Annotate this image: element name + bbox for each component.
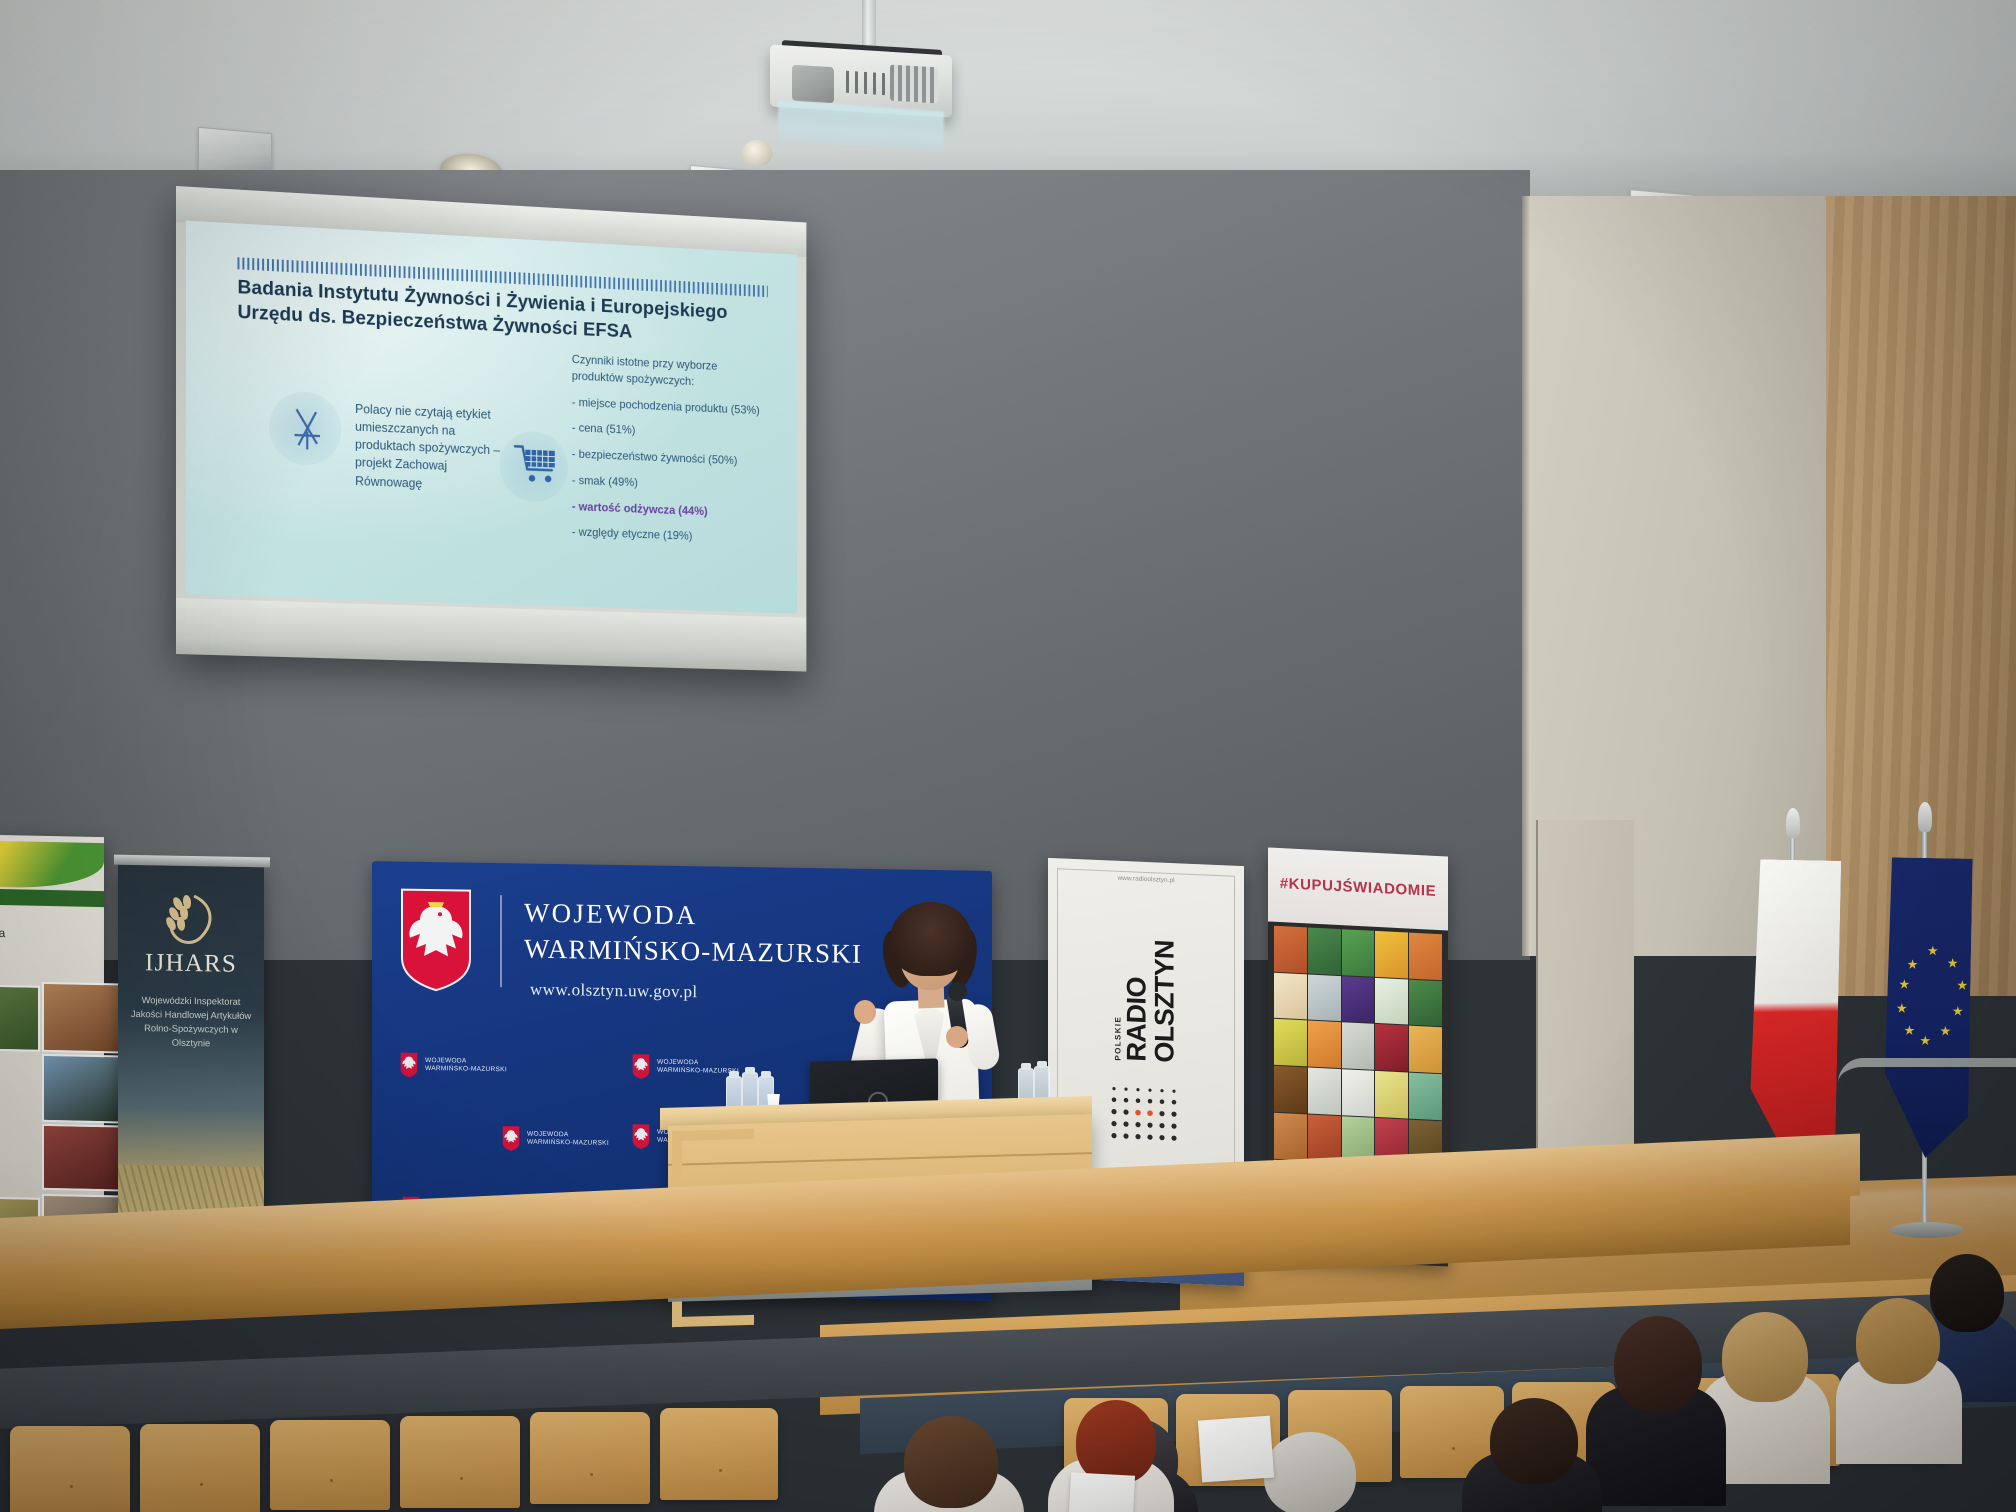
attendee-head bbox=[1856, 1298, 1940, 1384]
poland-flag-finial bbox=[1786, 808, 1800, 838]
eu-star: ★ bbox=[1907, 958, 1919, 971]
eu-star: ★ bbox=[1952, 1004, 1964, 1017]
no-label-icon bbox=[291, 405, 324, 452]
projector-vent bbox=[890, 65, 938, 104]
collage-tile bbox=[1375, 978, 1408, 1025]
collage-tile bbox=[1409, 933, 1442, 980]
jacket-lapel bbox=[914, 1004, 946, 1063]
collage-tile bbox=[1308, 1068, 1341, 1115]
slide-left-text: Polacy nie czytają etykiet umieszczanych… bbox=[355, 400, 511, 496]
wall-panel-edge bbox=[1522, 196, 1531, 956]
slide-bullet-3: - smak (49%) bbox=[572, 472, 768, 496]
wm1: WOJEWODA bbox=[657, 1058, 699, 1066]
projector-ports bbox=[846, 71, 886, 95]
backdrop-watermark-3: WOJEWODA WARMIŃSKO-MAZURSKI bbox=[500, 1125, 609, 1153]
backdrop-watermark-2: WOJEWODA WARMIŃSKO-MAZURSKI bbox=[630, 1053, 739, 1081]
attendee-head-grey-hair bbox=[1264, 1432, 1356, 1512]
auditorium-seat[interactable] bbox=[270, 1420, 390, 1510]
slide-bullet-2: - bezpieczeństwo żywności (50%) bbox=[572, 446, 768, 470]
backdrop-divider bbox=[500, 895, 502, 987]
handout-paper[interactable] bbox=[1069, 1472, 1135, 1512]
kupuj-header: #KUPUJŚWIADOMIE bbox=[1268, 847, 1448, 930]
auditorium-seat[interactable] bbox=[530, 1412, 650, 1504]
microphone-head bbox=[948, 982, 967, 1001]
collage-tile bbox=[1409, 1073, 1442, 1120]
collage-tile bbox=[1342, 929, 1375, 976]
collage-tile bbox=[1342, 1069, 1375, 1116]
polish-eagle-emblem-icon bbox=[630, 1123, 652, 1149]
slide-bullet-0: - miejsce pochodzenia produktu (53%) bbox=[572, 394, 768, 419]
auditorium-scene: Badania Instytutu Żywności i Żywienia i … bbox=[0, 0, 2016, 1512]
attendee-head bbox=[1722, 1312, 1808, 1402]
collage-tile bbox=[1274, 1113, 1307, 1160]
watermark-text: WOJEWODA WARMIŃSKO-MAZURSKI bbox=[657, 1058, 739, 1076]
radio-brand-line1: RADIO bbox=[1122, 939, 1150, 1063]
watermark-text: WOJEWODA WARMIŃSKO-MAZURSKI bbox=[527, 1130, 609, 1148]
wm1: WOJEWODA bbox=[425, 1057, 467, 1065]
odr-banner-text: …środek …olnictwa bbox=[0, 910, 100, 943]
slide-bullet-5: - względy etyczne (19%) bbox=[572, 524, 768, 547]
odr-photo-1 bbox=[0, 984, 40, 1052]
slide-right-column: Czynniki istotne przy wyborze produktów … bbox=[572, 351, 768, 557]
poland-flag bbox=[1749, 859, 1841, 1171]
auditorium-seat[interactable] bbox=[660, 1408, 778, 1500]
collage-tile bbox=[1274, 1019, 1307, 1066]
smoke-detector-icon bbox=[742, 140, 772, 166]
speaker-hair bbox=[890, 902, 972, 976]
eu-star: ★ bbox=[1927, 944, 1939, 957]
auditorium-seat[interactable] bbox=[400, 1416, 520, 1508]
slide-bullet-1: - cena (51%) bbox=[572, 420, 768, 445]
collage-tile bbox=[1342, 1023, 1375, 1070]
collage-tile bbox=[1308, 974, 1341, 1021]
collage-tile bbox=[1409, 979, 1442, 1026]
bottle-cap bbox=[761, 1071, 771, 1078]
attendee-head bbox=[1490, 1398, 1578, 1484]
collage-tile bbox=[1274, 926, 1307, 973]
polish-eagle-emblem-icon bbox=[500, 1125, 522, 1151]
attendee-head bbox=[904, 1416, 998, 1508]
collage-tile bbox=[1308, 1114, 1341, 1161]
watermark-text: WOJEWODA WARMIŃSKO-MAZURSKI bbox=[425, 1057, 507, 1075]
speaker-left-hand bbox=[854, 1000, 876, 1024]
speaker-right-hand bbox=[946, 1026, 968, 1048]
eu-star: ★ bbox=[1898, 977, 1910, 990]
shopping-cart-icon bbox=[513, 442, 559, 485]
collage-tile bbox=[1375, 1071, 1408, 1118]
auditorium-seat[interactable] bbox=[140, 1424, 260, 1512]
odr-photo-3 bbox=[42, 1054, 122, 1124]
collage-tile bbox=[1342, 976, 1375, 1023]
wm2: WARMIŃSKO-MAZURSKI bbox=[527, 1139, 609, 1147]
radio-dot-matrix-icon bbox=[1106, 1082, 1190, 1148]
bottle-cap bbox=[745, 1067, 755, 1074]
eu-star: ★ bbox=[1919, 1034, 1931, 1047]
polish-eagle-emblem-icon bbox=[630, 1053, 652, 1079]
collage-tile bbox=[1375, 1024, 1408, 1071]
odr-logo-swoosh bbox=[0, 840, 104, 889]
ijhars-top-rail bbox=[114, 855, 270, 868]
collage-tile bbox=[1308, 1021, 1341, 1068]
eu-flag-base bbox=[1890, 1222, 1964, 1238]
radio-brand-line2: OLSZTYN bbox=[1151, 940, 1179, 1064]
collage-tile bbox=[1274, 972, 1307, 1019]
eu-star: ★ bbox=[1903, 1024, 1915, 1037]
projector-lens bbox=[792, 65, 834, 104]
kupuj-hashtag: #KUPUJŚWIADOMIE bbox=[1268, 874, 1448, 900]
handout-paper[interactable] bbox=[1198, 1416, 1274, 1483]
odr-logo-bar bbox=[0, 888, 104, 907]
wojewoda-url: www.olsztyn.uw.gov.pl bbox=[530, 980, 698, 1003]
eu-star: ★ bbox=[1896, 1001, 1908, 1014]
eu-flag: ★ ★ ★ ★ ★ ★ ★ ★ ★ ★ bbox=[1883, 857, 1972, 1158]
attendee-head bbox=[1930, 1254, 2004, 1332]
polish-eagle-emblem-icon bbox=[394, 885, 478, 992]
polish-eagle-emblem-icon bbox=[398, 1052, 420, 1078]
attendee-head bbox=[1614, 1316, 1702, 1412]
collage-tile bbox=[1274, 1066, 1307, 1113]
odr-line-2: …olnictwa bbox=[0, 925, 100, 943]
wheat-ear-logo-icon bbox=[154, 891, 228, 946]
presentation-slide: Badania Instytutu Żywności i Żywienia i … bbox=[186, 221, 797, 614]
ijhars-title: IJHARS bbox=[118, 949, 264, 980]
slide-bullet-4: - wartość odżywcza (44%) bbox=[572, 498, 768, 522]
attendee-head-red-hair bbox=[1076, 1400, 1156, 1484]
wm1: WOJEWODA bbox=[527, 1130, 569, 1138]
wm2: WARMIŃSKO-MAZURSKI bbox=[657, 1067, 739, 1075]
wojewoda-line2: WARMIŃSKO-MAZURSKI bbox=[524, 934, 862, 970]
collage-tile bbox=[1375, 931, 1408, 978]
bottle-cap bbox=[1021, 1063, 1031, 1070]
odr-photo-2 bbox=[42, 982, 122, 1054]
backdrop-watermark-1: WOJEWODA WARMIŃSKO-MAZURSKI bbox=[398, 1052, 507, 1080]
eu-flag-finial bbox=[1918, 802, 1932, 832]
projection-screen: Badania Instytutu Żywności i Żywienia i … bbox=[176, 186, 806, 672]
wojewoda-line1: WOJEWODA bbox=[524, 898, 698, 932]
collage-tile bbox=[1308, 927, 1341, 974]
stage-handrail bbox=[1838, 1058, 2016, 1083]
bottle-cap bbox=[1037, 1061, 1047, 1068]
radio-logo: POLSKIE RADIO OLSZTYN bbox=[1048, 922, 1244, 1080]
bottle-cap bbox=[729, 1071, 739, 1078]
collage-tile bbox=[1409, 1026, 1442, 1073]
auditorium-seat[interactable] bbox=[10, 1426, 130, 1512]
ijhars-subtitle: Wojewódzki Inspektorat Jakości Handlowej… bbox=[128, 993, 254, 1052]
eu-star: ★ bbox=[1956, 978, 1968, 991]
eu-star: ★ bbox=[1939, 1024, 1951, 1037]
odr-photo-4 bbox=[42, 1124, 122, 1192]
eu-star: ★ bbox=[1947, 956, 1959, 969]
wm2: WARMIŃSKO-MAZURSKI bbox=[425, 1065, 507, 1073]
